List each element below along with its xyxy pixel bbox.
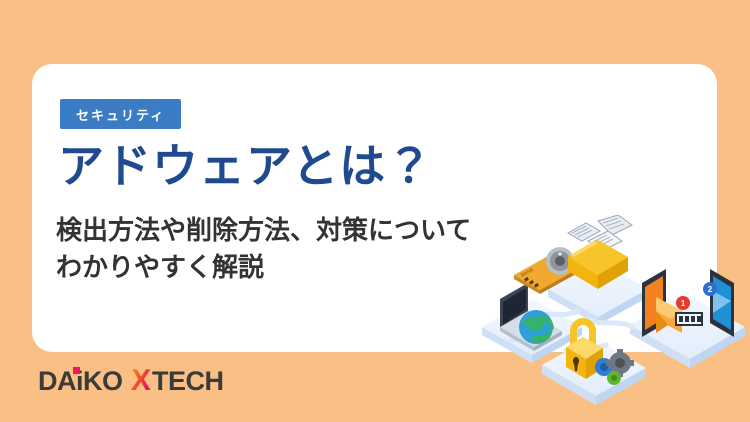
daiko-xtech-logo[interactable]: DAiKO X TECH <box>38 366 224 396</box>
logo-text-daiko: DA <box>38 366 76 396</box>
logo-wordmark-daiko: DAiKO <box>38 368 123 395</box>
logo-text-iko: iKO <box>76 366 123 396</box>
security-illustration: BANK <box>470 215 750 405</box>
notification-badge-2-icon: 2 <box>703 282 717 296</box>
logo-text-tech: TECH <box>152 368 224 395</box>
notification-badge-1-icon: 1 <box>676 296 690 310</box>
badge-2-label: 2 <box>708 285 713 294</box>
page-title: アドウェアとは？ <box>58 142 433 192</box>
article-banner: セキュリティ アドウェアとは？ 検出方法や削除方法、対策について わかりやすく解… <box>0 0 750 422</box>
logo-x-icon: X <box>130 366 151 396</box>
badge-1-label: 1 <box>681 299 686 308</box>
password-field-icon <box>676 313 702 325</box>
category-badge[interactable]: セキュリティ <box>60 99 181 129</box>
logo-i-dot-icon <box>73 367 80 374</box>
globe-icon <box>519 310 553 344</box>
document-icon <box>598 215 632 235</box>
